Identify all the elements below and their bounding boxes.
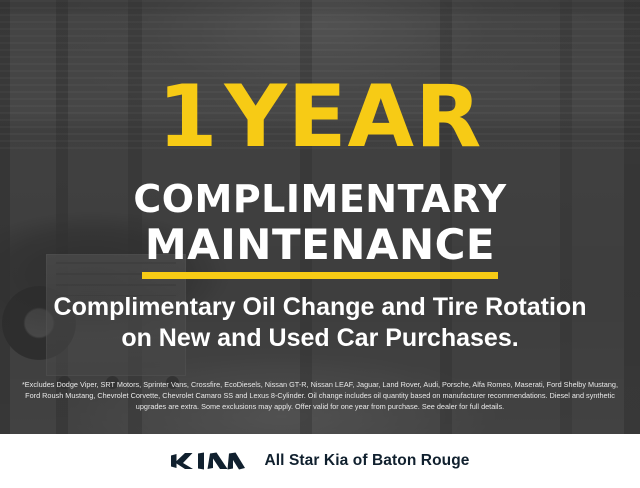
subheadline-block: Complimentary Oil Change and Tire Rotati… bbox=[20, 292, 620, 354]
subheadline-line-1: Complimentary Oil Change and Tire Rotati… bbox=[20, 292, 620, 323]
headline-number: 1 bbox=[158, 67, 219, 167]
headline-maintenance: MAINTENANCE bbox=[0, 224, 640, 266]
kia-logo-icon bbox=[170, 450, 246, 472]
disclaimer-text: *Excludes Dodge Viper, SRT Motors, Sprin… bbox=[16, 379, 624, 412]
promotional-banner: 1YEAR COMPLIMENTARY MAINTENANCE Complime… bbox=[0, 0, 640, 488]
footer-bar: All Star Kia of Baton Rouge bbox=[0, 434, 640, 488]
yellow-divider-rule bbox=[142, 272, 498, 279]
headline-year-word: YEAR bbox=[225, 67, 483, 167]
headline-complimentary: COMPLIMENTARY bbox=[0, 180, 640, 218]
hero-section: 1YEAR COMPLIMENTARY MAINTENANCE Complime… bbox=[0, 0, 640, 434]
hero-copy-block: 1YEAR COMPLIMENTARY MAINTENANCE Complime… bbox=[0, 0, 640, 434]
dealer-name-label: All Star Kia of Baton Rouge bbox=[264, 452, 469, 470]
headline-primary: 1YEAR bbox=[0, 74, 640, 160]
subheadline-line-2: on New and Used Car Purchases. bbox=[20, 323, 620, 354]
